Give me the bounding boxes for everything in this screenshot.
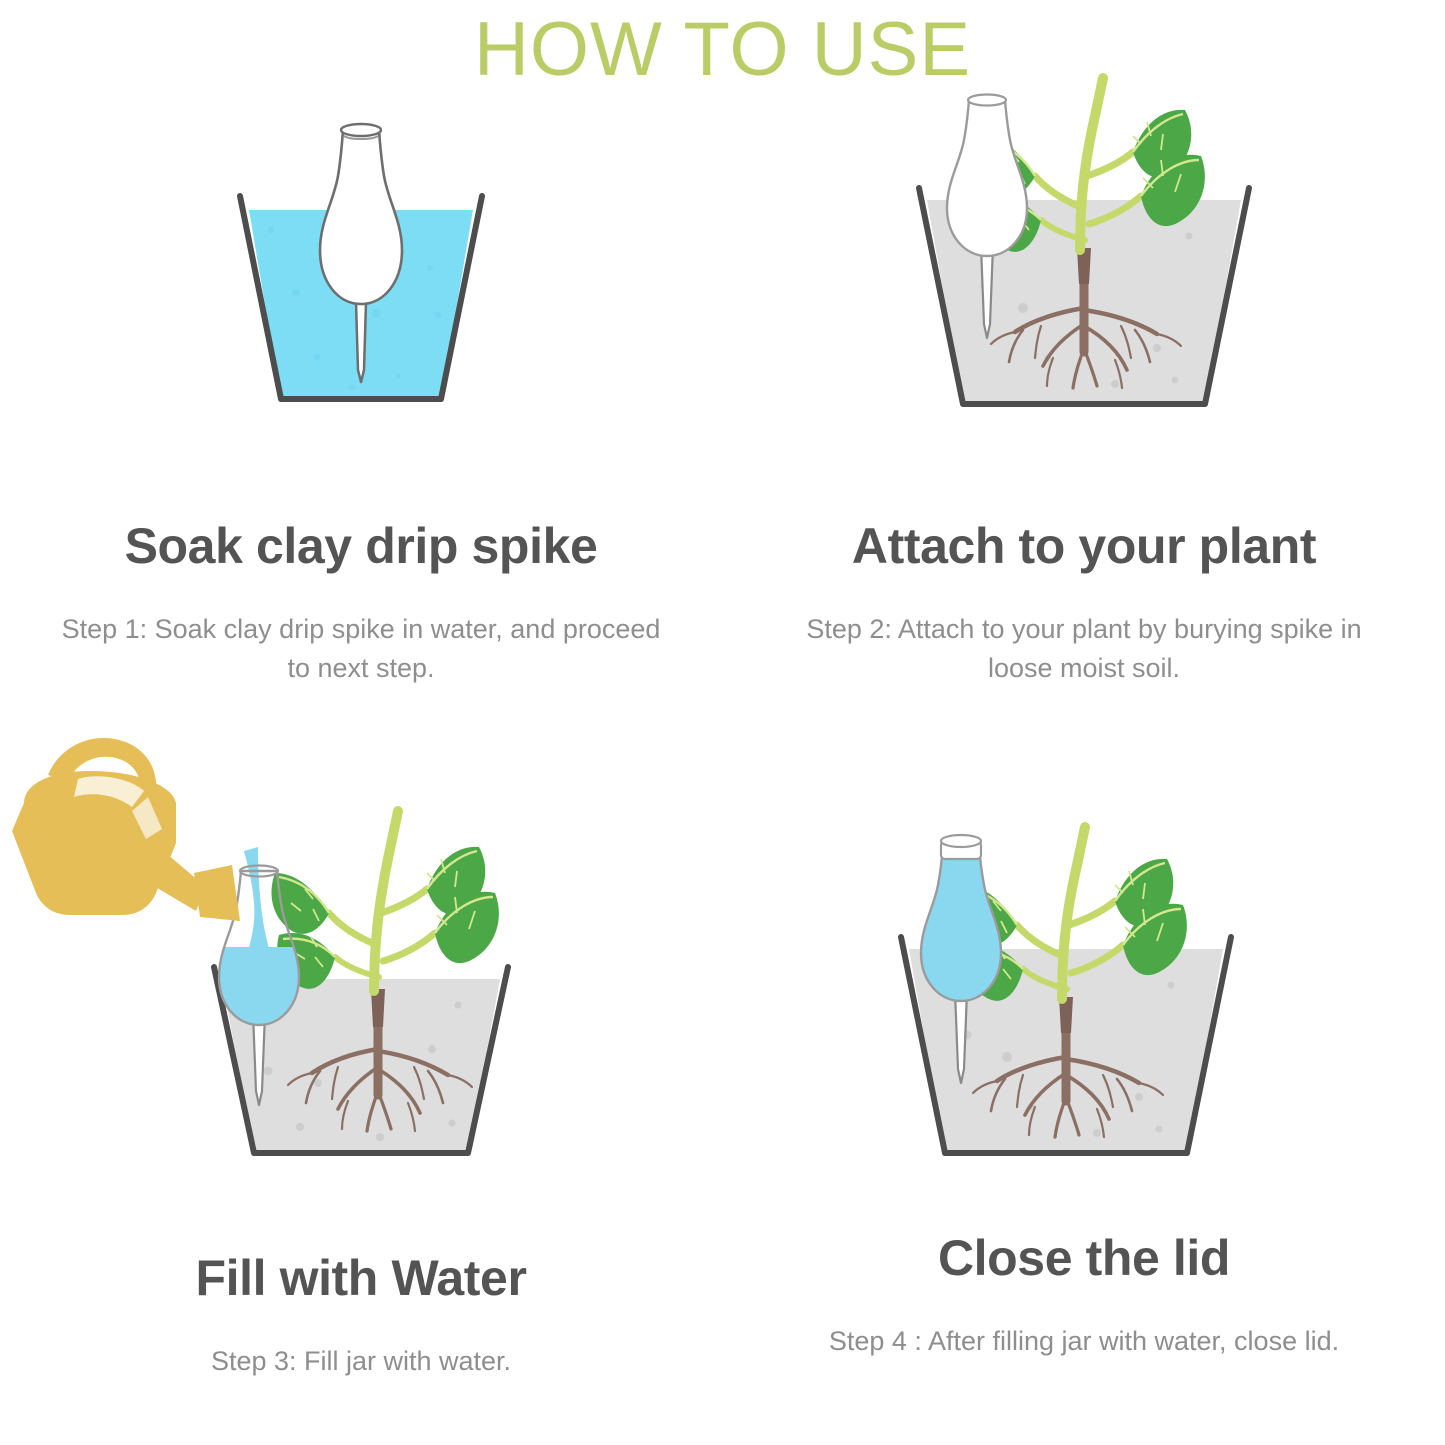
step-2-heading: Attach to your plant (723, 516, 1445, 576)
step-1-caption: Soak clay drip spike Step 1: Soak clay d… (0, 516, 722, 688)
step-card-1: Soak clay drip spike Step 1: Soak clay d… (0, 0, 722, 722)
step-card-2: Attach to your plant Step 2: Attach to y… (723, 0, 1445, 722)
step-3-caption: Fill with Water Step 3: Fill jar with wa… (0, 1248, 722, 1381)
step-4-description: Step 4 : After filling jar with water, c… (723, 1322, 1445, 1361)
step-card-3: Fill with Water Step 3: Fill jar with wa… (0, 723, 722, 1445)
watering-can-filling-jar-icon (0, 723, 722, 1203)
how-to-use-infographic: HOW TO USE (0, 0, 1445, 1445)
step-1-heading: Soak clay drip spike (0, 516, 722, 576)
step-2-caption: Attach to your plant Step 2: Attach to y… (723, 516, 1445, 688)
step-4-heading: Close the lid (723, 1228, 1445, 1288)
spike-in-water-cup-icon (0, 118, 722, 458)
step-4-caption: Close the lid Step 4 : After filling jar… (723, 1228, 1445, 1361)
step-3-description: Step 3: Fill jar with water. (0, 1342, 722, 1381)
step-2-description: Step 2: Attach to your plant by burying … (723, 610, 1445, 688)
closed-jar-in-potted-plant-icon (723, 753, 1445, 1213)
spike-in-potted-plant-icon (723, 58, 1445, 458)
step-3-heading: Fill with Water (0, 1248, 722, 1308)
step-1-description: Step 1: Soak clay drip spike in water, a… (0, 610, 722, 688)
step-card-4: Close the lid Step 4 : After filling jar… (723, 723, 1445, 1445)
